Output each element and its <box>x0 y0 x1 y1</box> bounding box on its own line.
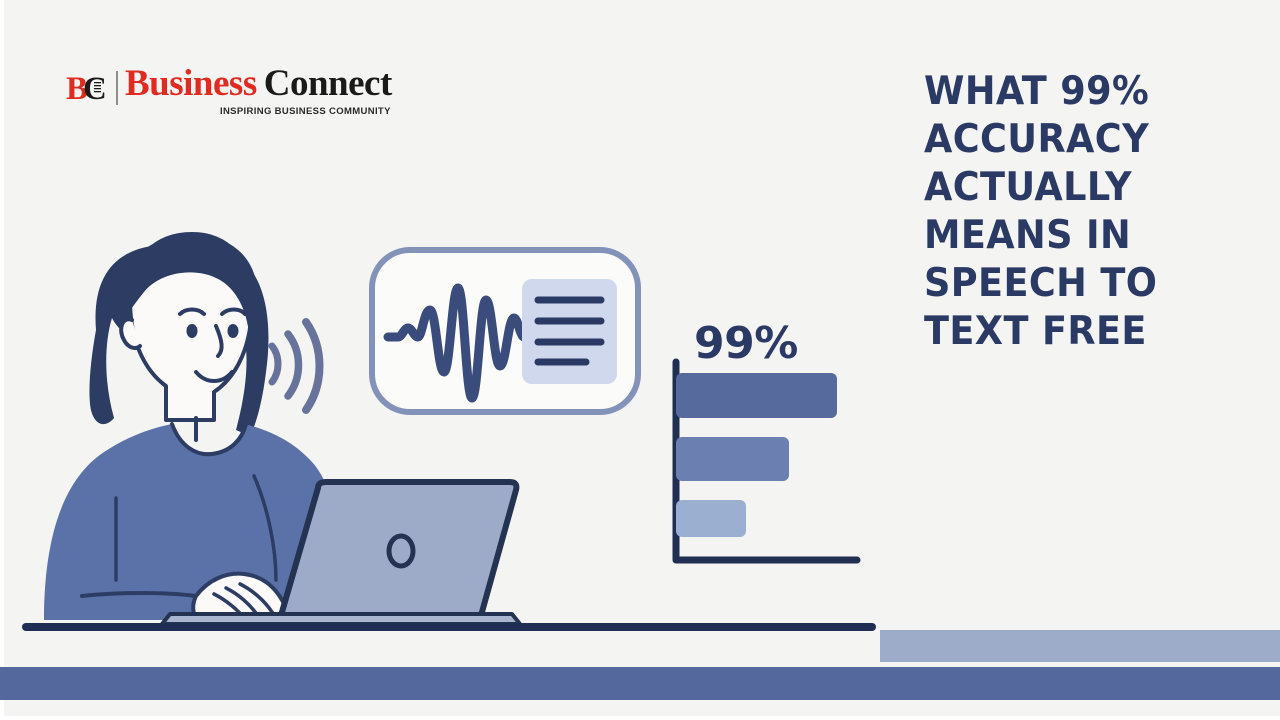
logo-word-connect: Connect <box>264 63 392 104</box>
accent-band-light <box>880 630 1280 662</box>
logo-wordmark: BusinessConnect INSPIRING BUSINESS COMMU… <box>125 64 392 117</box>
brand-logo[interactable]: B C BusinessConnect INSPIRING BUSINESS C… <box>66 68 392 128</box>
footer-band <box>0 667 1280 700</box>
accuracy-percent-label: 99% <box>694 322 798 366</box>
bc-monogram-icon: B C <box>66 70 110 106</box>
logo-tagline: INSPIRING BUSINESS COMMUNITY <box>125 106 392 117</box>
logo-word-business: Business <box>125 63 257 104</box>
logo-divider <box>116 71 118 105</box>
poster-canvas: B C BusinessConnect INSPIRING BUSINESS C… <box>0 0 1280 720</box>
page-title: WHAT 99% ACCURACY ACTUALLY MEANS IN SPEE… <box>924 68 1206 356</box>
